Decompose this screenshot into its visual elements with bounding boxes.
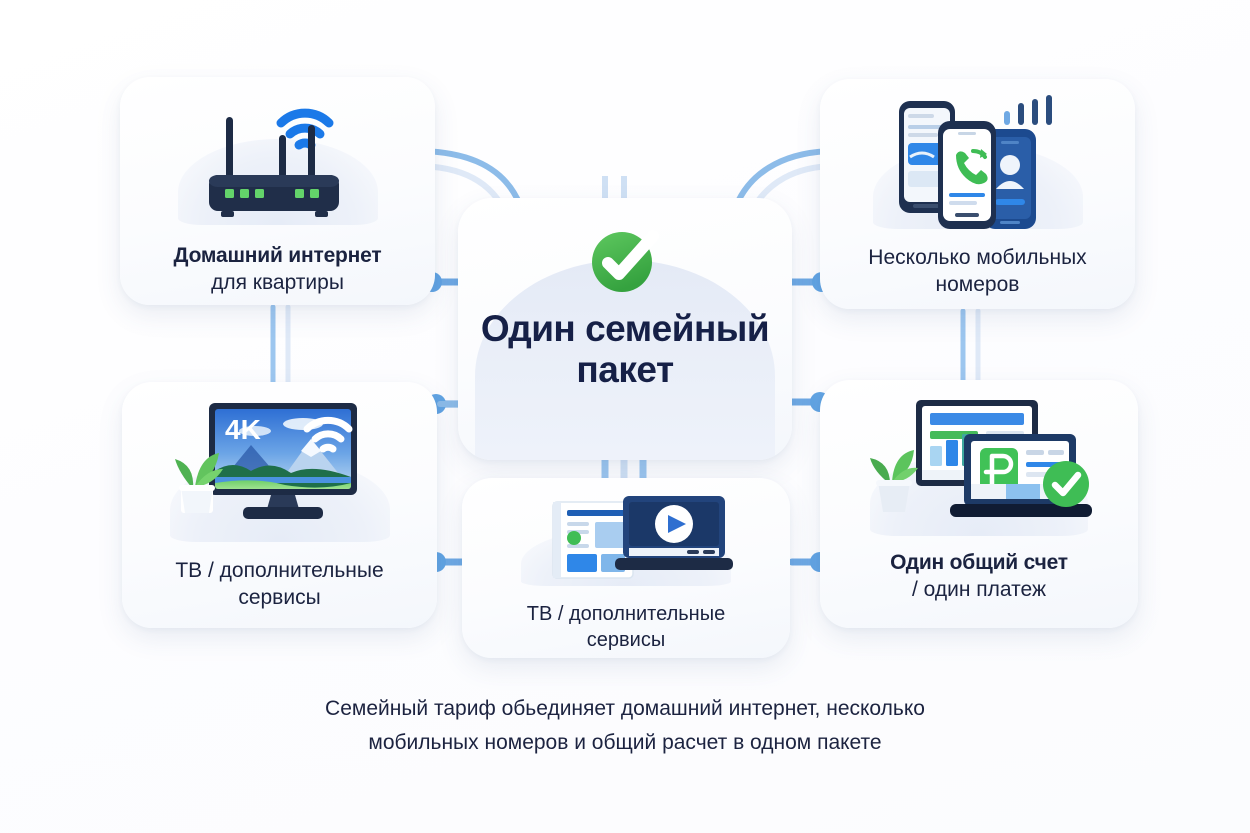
center-title-line-3: пакет bbox=[576, 349, 673, 390]
card-tv-services[interactable]: 4K bbox=[122, 382, 437, 628]
home-internet-art bbox=[120, 89, 435, 229]
media-player-monitor-icon bbox=[511, 488, 741, 592]
center-title-line-2: семейный bbox=[585, 308, 769, 349]
wifi-router-icon bbox=[163, 89, 393, 229]
label-line-2: сервисы bbox=[175, 585, 383, 612]
tv-4k-icon: 4K bbox=[155, 393, 405, 548]
tv-media-art bbox=[462, 488, 790, 592]
card-mobile-numbers-label: Несколько мобильных номеров bbox=[854, 245, 1100, 299]
label-line-1: Один общий счет bbox=[890, 550, 1068, 577]
infographic-canvas: Домашний интернет для квартиры bbox=[0, 0, 1250, 833]
card-tv-services-media[interactable]: ТВ / дополнительные сервисы bbox=[462, 478, 790, 658]
billing-devices-icon bbox=[854, 390, 1104, 542]
card-single-bill-label: Один общий счет / один платеж bbox=[876, 550, 1082, 604]
label-line-2: номеров bbox=[868, 272, 1086, 299]
caption: Семейный тариф обьединяет домашний интер… bbox=[0, 692, 1250, 760]
label-line-2: / один платеж bbox=[890, 577, 1068, 604]
label-line-2: для квартиры bbox=[174, 270, 382, 297]
center-title: Один семейный пакет bbox=[458, 308, 792, 391]
tv-services-art: 4K bbox=[122, 392, 437, 548]
card-tv-services-media-label: ТВ / дополнительные сервисы bbox=[513, 602, 739, 653]
three-phones-icon bbox=[853, 85, 1103, 235]
caption-line-1: Семейный тариф обьединяет домашний интер… bbox=[0, 692, 1250, 726]
label-line-1: ТВ / дополнительные bbox=[175, 558, 383, 585]
center-title-line-1: Один bbox=[481, 308, 575, 349]
card-family-package[interactable]: Один семейный пакет bbox=[458, 198, 792, 460]
connector-internet-to-tv bbox=[273, 307, 288, 382]
caption-line-2: мобильных номеров и общий расчет в одном… bbox=[0, 726, 1250, 760]
card-mobile-numbers[interactable]: Несколько мобильных номеров bbox=[820, 79, 1135, 309]
mobile-numbers-art bbox=[820, 87, 1135, 235]
connector-center-top-ticks bbox=[605, 176, 624, 198]
connector-mobile-to-bill bbox=[963, 311, 978, 380]
card-single-bill[interactable]: Один общий счет / один платеж bbox=[820, 380, 1138, 628]
card-home-internet[interactable]: Домашний интернет для квартиры bbox=[120, 77, 435, 305]
screen-badge-4k: 4K bbox=[225, 414, 261, 445]
single-bill-art bbox=[820, 390, 1138, 542]
label-line-1: ТВ / дополнительные bbox=[527, 602, 725, 628]
label-line-1: Несколько мобильных bbox=[868, 245, 1086, 272]
label-line-2: сервисы bbox=[527, 628, 725, 654]
card-tv-services-label: ТВ / дополнительные сервисы bbox=[161, 558, 397, 612]
green-check-circle-icon bbox=[585, 220, 665, 298]
card-home-internet-label: Домашний интернет для квартиры bbox=[160, 243, 396, 297]
label-line-1: Домашний интернет bbox=[174, 243, 382, 270]
